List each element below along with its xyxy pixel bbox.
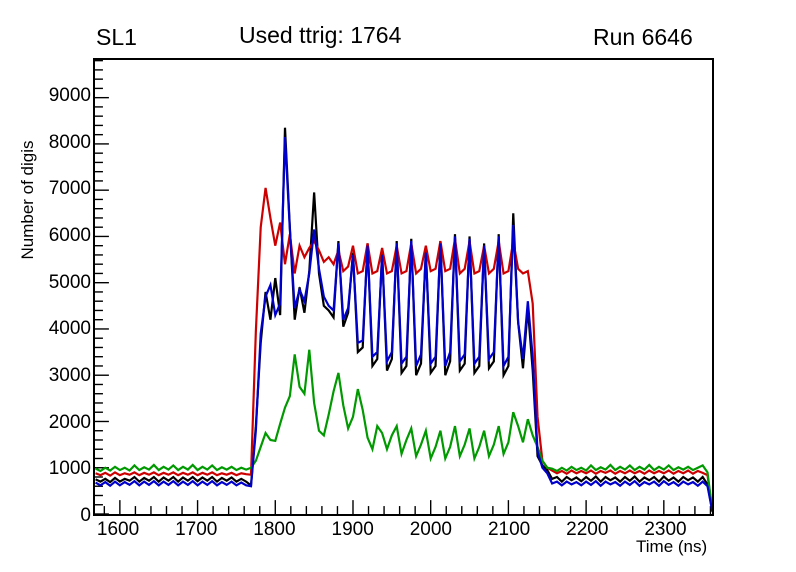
series-line-l3: [96, 350, 712, 511]
series-line-l2: [96, 188, 712, 511]
axis-ticks: [95, 61, 710, 514]
x-tick-2200: 2200: [566, 519, 608, 541]
x-tick-1800: 1800: [253, 519, 295, 541]
chart-canvas: SL1 Used ttrig: 1764 Run 6646 Number of …: [0, 0, 796, 572]
series-line-l4: [96, 137, 712, 512]
x-tick-2100: 2100: [488, 519, 530, 541]
x-tick-2300: 2300: [644, 519, 686, 541]
plot-frame: [93, 58, 714, 516]
x-tick-1700: 1700: [175, 519, 217, 541]
x-tick-1900: 1900: [332, 519, 374, 541]
series-line-l1: [96, 128, 712, 512]
series-lines: [95, 60, 712, 514]
x-tick-1600: 1600: [97, 519, 139, 541]
x-tick-2000: 2000: [410, 519, 452, 541]
